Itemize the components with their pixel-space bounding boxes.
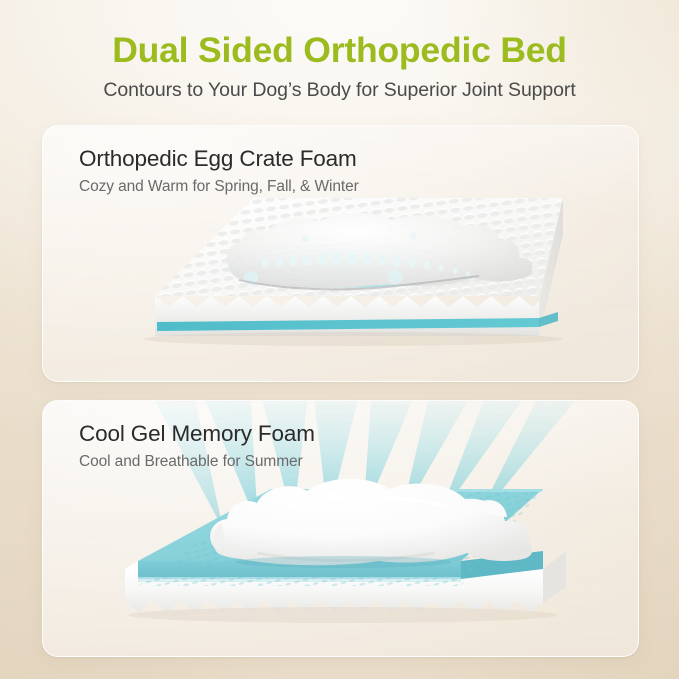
card-subtitle: Cool and Breathable for Summer — [79, 447, 315, 471]
card-subtitle: Cozy and Warm for Spring, Fall, & Winter — [79, 172, 359, 196]
card-title: Cool Gel Memory Foam — [79, 421, 315, 447]
page-title: Dual Sided Orthopedic Bed — [0, 0, 679, 72]
card-header-cool-gel: Cool Gel Memory Foam Cool and Breathable… — [79, 421, 315, 471]
page-subtitle: Contours to Your Dog’s Body for Superior… — [0, 72, 679, 102]
card-header-egg-crate: Orthopedic Egg Crate Foam Cozy and Warm … — [79, 146, 359, 196]
infographic-page: Dual Sided Orthopedic Bed Contours to Yo… — [0, 0, 679, 679]
feature-card-cool-gel-foam: Cool Gel Memory Foam Cool and Breathable… — [42, 400, 639, 657]
header: Dual Sided Orthopedic Bed Contours to Yo… — [0, 0, 679, 102]
feature-card-egg-crate-foam: Orthopedic Egg Crate Foam Cozy and Warm … — [42, 125, 639, 382]
card-title: Orthopedic Egg Crate Foam — [79, 146, 359, 172]
